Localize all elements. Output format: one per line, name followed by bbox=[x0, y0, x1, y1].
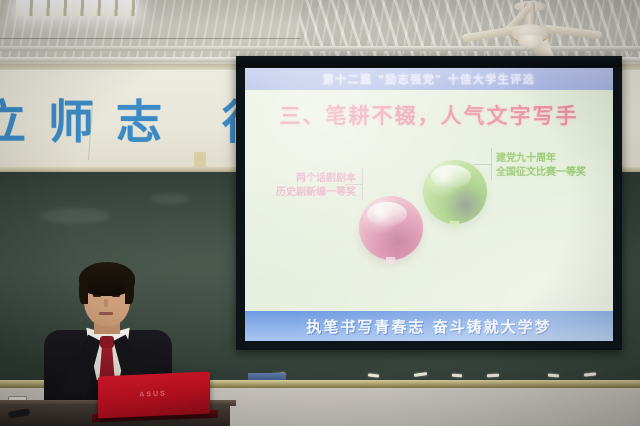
pink-callout-text: 两个话剧剧本 历史剧新编一等奖 bbox=[276, 172, 356, 200]
green-callout-line-2: 全国征文比赛一等奖 bbox=[496, 166, 586, 180]
laptop-brand-logo: ASUS bbox=[136, 390, 170, 399]
ceiling-seam bbox=[0, 38, 300, 39]
slide-header-bar: 第十二届 "励志强党" 十佳大学生评选 bbox=[245, 68, 613, 90]
projection-screen-roller bbox=[236, 56, 622, 67]
slide-header-text: 第十二届 "励志强党" 十佳大学生评选 bbox=[323, 71, 536, 87]
presenter-hair-side-left bbox=[79, 278, 88, 304]
nose bbox=[104, 299, 108, 307]
pink-sphere-stem bbox=[386, 257, 395, 264]
slide-footer-text: 执笔书写青春志 奋斗铸就大学梦 bbox=[306, 316, 551, 337]
green-sphere-graphic bbox=[423, 160, 487, 224]
presenter-hair-side-right bbox=[125, 278, 134, 304]
slide-footer-bar: 执笔书写青春志 奋斗铸就大学梦 bbox=[245, 311, 613, 341]
laptop[interactable]: ASUS bbox=[98, 372, 210, 419]
green-callout-text: 建党九十周年 全国征文比赛一等奖 bbox=[496, 152, 586, 180]
skylight-bars bbox=[16, 0, 136, 16]
slide-title: 三、笔耕不辍，人气文字写手 bbox=[245, 100, 613, 130]
ceiling-fan-icon bbox=[470, 2, 600, 60]
mouth bbox=[99, 312, 113, 315]
fan-light-dome bbox=[518, 35, 543, 48]
fan-blade bbox=[544, 24, 603, 39]
chalk-smudge bbox=[40, 208, 110, 224]
classroom-scene: 立师志 行师 第十二届 "励志强党" 十佳大学生评选 三、笔耕不辍，人气文字写手 bbox=[0, 0, 640, 426]
green-callout-line-1: 建党九十周年 bbox=[496, 152, 586, 166]
green-sphere-stem bbox=[450, 221, 459, 228]
pink-callout-line-1: 两个话剧剧本 bbox=[276, 172, 356, 186]
pink-sphere-graphic bbox=[359, 196, 423, 260]
projection-screen: 第十二届 "励志强党" 十佳大学生评选 三、笔耕不辍，人气文字写手 建党九十周年… bbox=[245, 68, 613, 341]
callout-leader-line bbox=[473, 164, 492, 165]
chalk-smudge bbox=[150, 194, 190, 204]
chalk-piece bbox=[487, 374, 499, 378]
pink-callout-line-2: 历史剧新编一等奖 bbox=[276, 186, 356, 200]
necktie-knot bbox=[100, 336, 114, 348]
chalk-piece bbox=[452, 374, 462, 378]
